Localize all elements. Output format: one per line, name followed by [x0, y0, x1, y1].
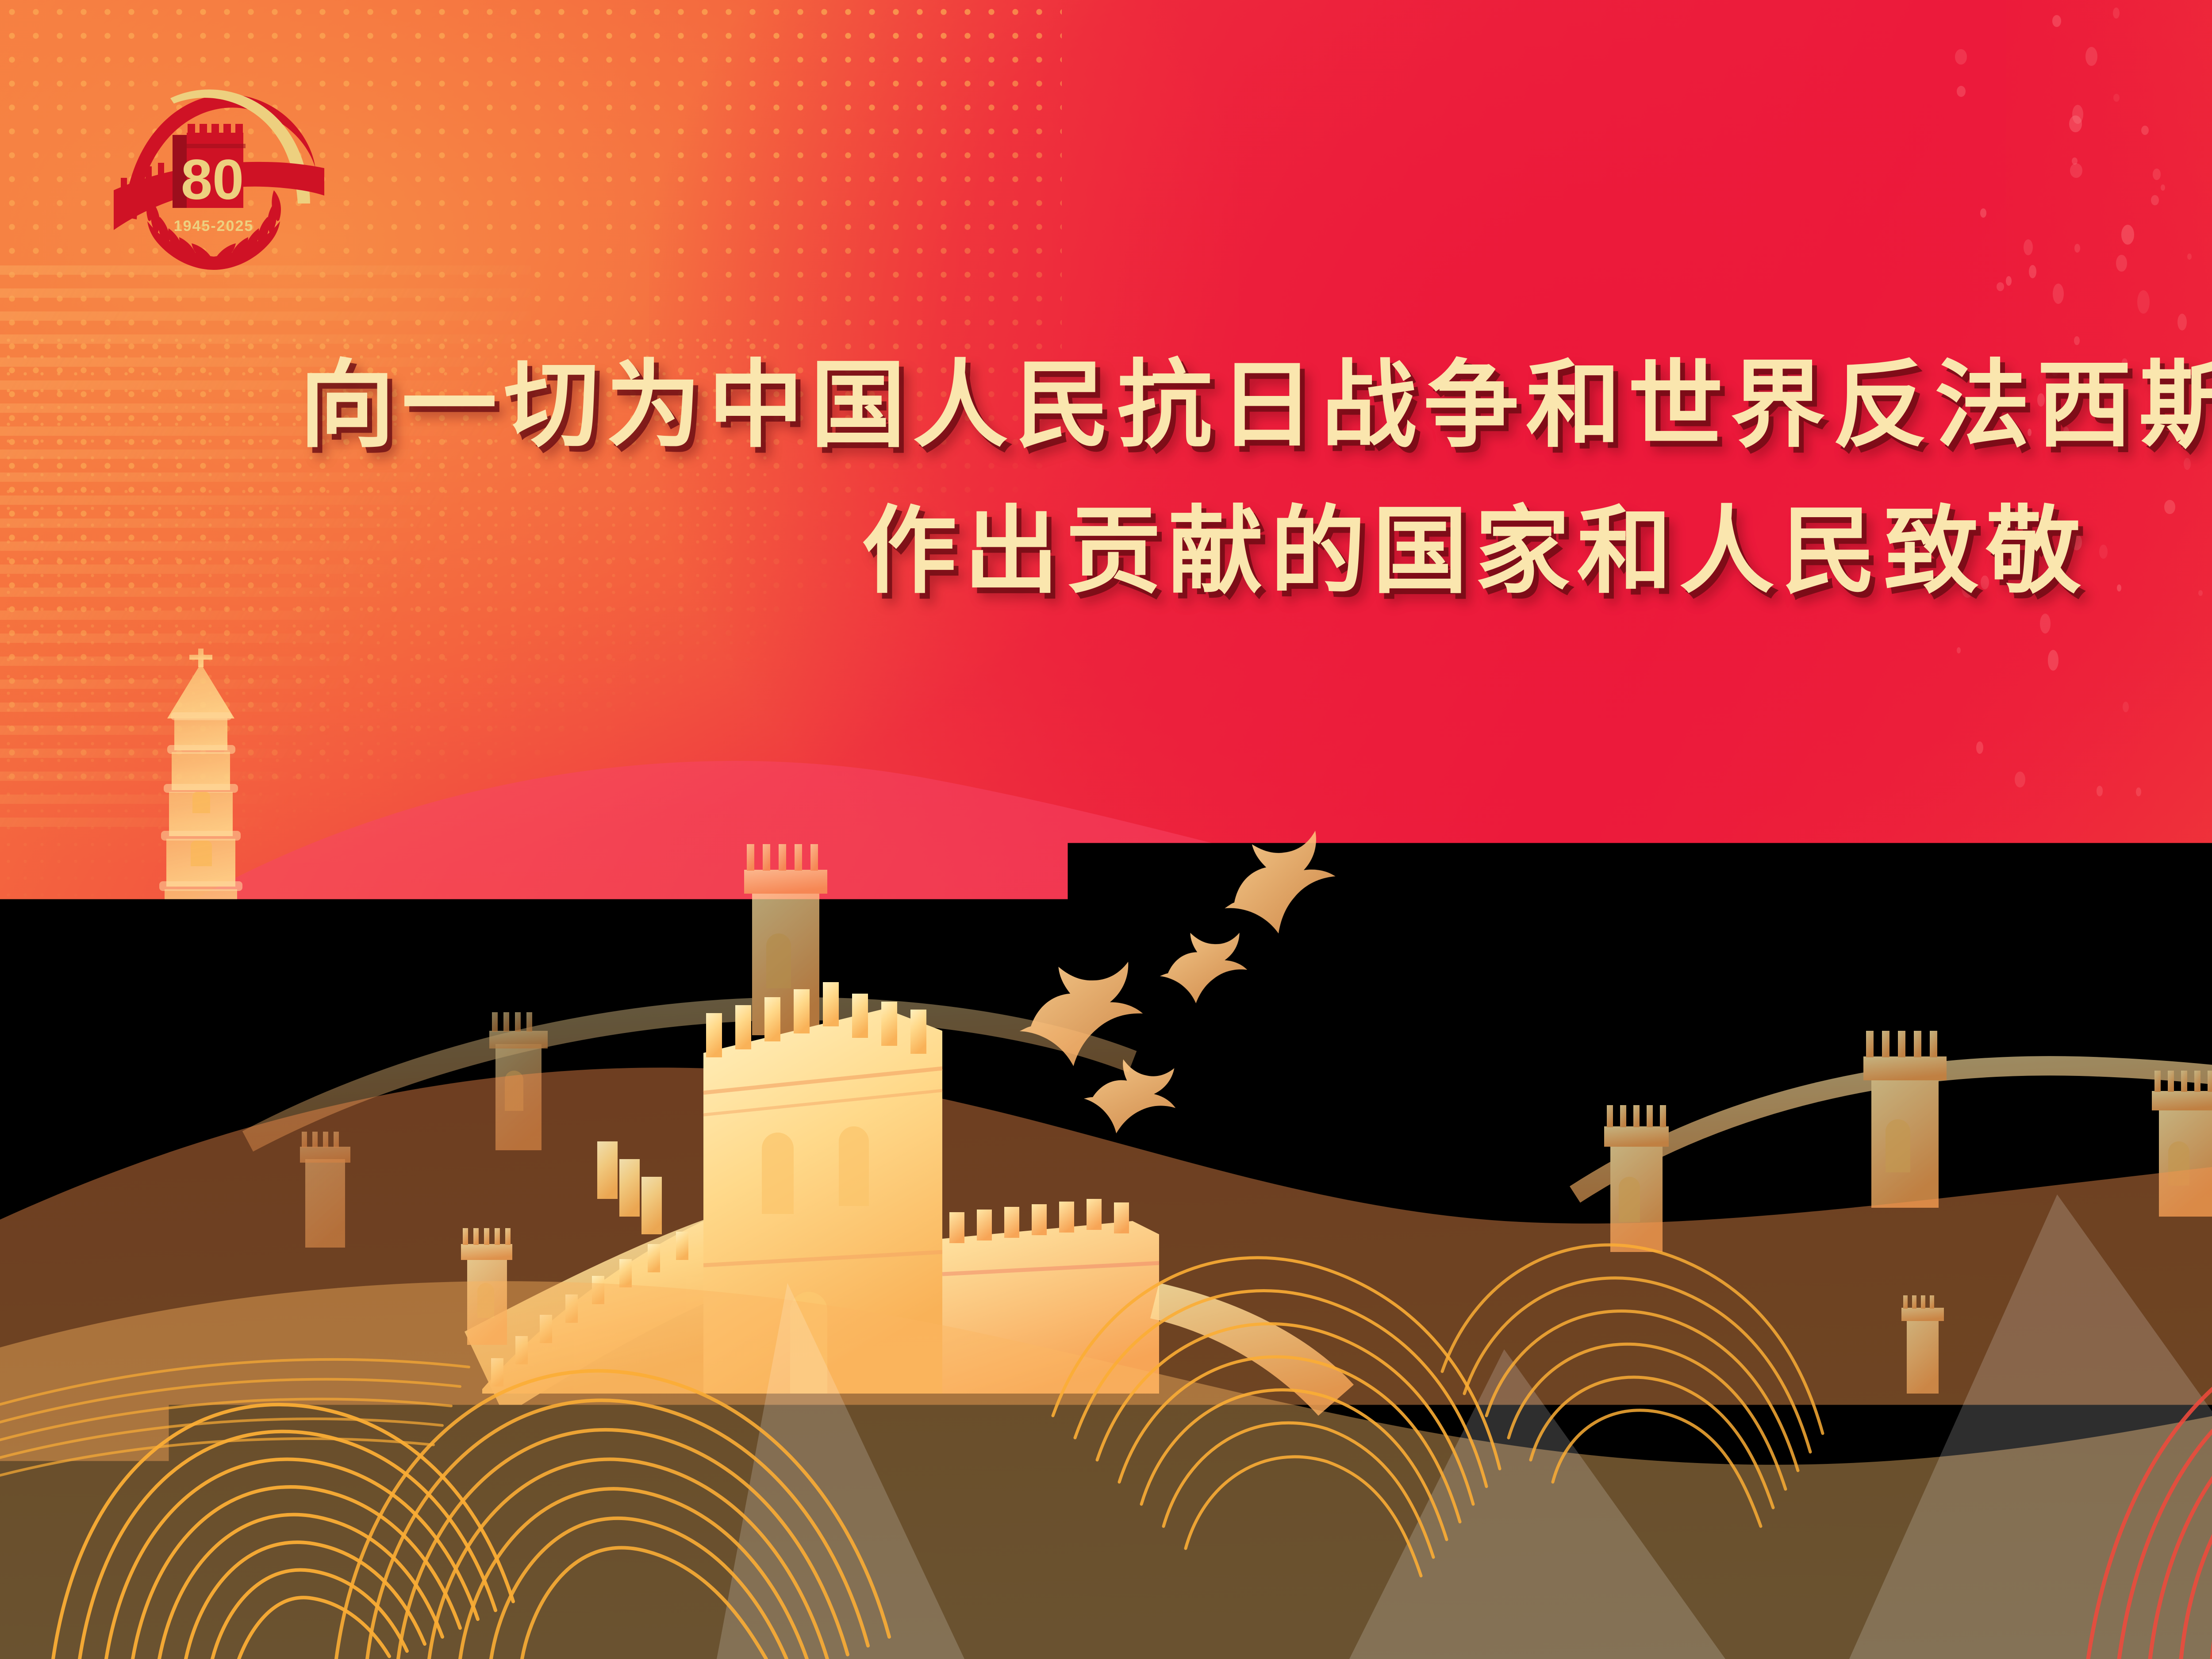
anniversary-emblem: 80 1945-2025	[104, 58, 334, 288]
poster-title-block: 向一切为中国人民抗日战争和世界反法西斯战争胜利 作出贡献的国家和人民致敬	[0, 336, 2212, 620]
emblem-year-range: 1945-2025	[174, 218, 254, 234]
poster-canvas: 80 1945-2025	[0, 0, 2212, 1659]
great-wall-small-tower-center	[1901, 1295, 1944, 1394]
emblem-number-80: 80	[181, 148, 244, 211]
poster-title-line-1: 向一切为中国人民抗日战争和世界反法西斯战争胜利	[0, 336, 2212, 474]
poster-title-line-2: 作出贡献的国家和人民致敬	[0, 474, 2212, 620]
